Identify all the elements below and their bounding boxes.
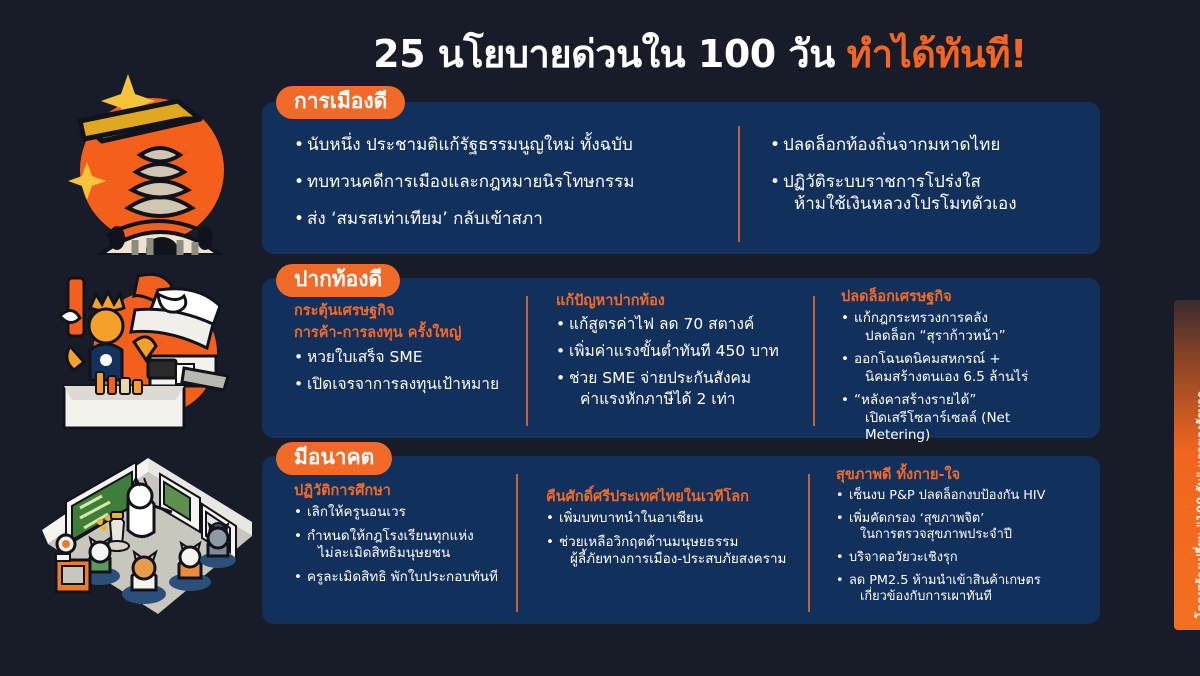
section-columns-politics: นับหนึ่ง ประชามติแก้รัฐธรรมนูญใหม่ ทั้งฉ… — [262, 118, 1100, 254]
section-badge-future: มีอนาคต — [276, 442, 392, 475]
list-item: เพิ่มบทบาทนำในอาเซียน — [546, 510, 792, 528]
list-item: ลด PM2.5 ห้ามนำเข้าสินค้าเกษตร เกี่ยวข้อ… — [836, 573, 1078, 606]
column-economy-costofliving: แก้ปัญหาปากท้อง แก้สูตรค่าไฟ ลด 70 สตางค… — [528, 288, 813, 438]
column-heading: สุขภาพดี ทั้งกาย-ใจ — [836, 466, 1078, 484]
section-badge-economy: ปากท้องดี — [276, 264, 400, 297]
page-title-accent: ทำได้ทันที! — [847, 35, 1027, 73]
section-columns-economy: กระตุ้นเศรษฐกิจ การค้า-การลงทุน ครั้งใหญ… — [262, 288, 1100, 438]
column-heading: ปลดล็อกเศรษฐกิจ — [841, 288, 1078, 306]
side-tab[interactable]: โครงสร้างเปลี่ยน "100 วัน" แรกของรัฐบาล — [1174, 300, 1200, 630]
column-economy-unlock: ปลดล็อกเศรษฐกิจ แก้กฎกระทรวงการคลัง ปลดล… — [815, 288, 1094, 438]
column-heading-secondary: การค้า-การลงทุน ครั้งใหญ่ — [294, 324, 510, 342]
bullet-list: ปลดล็อกท้องถิ่นจากมหาดไทย ปฏิวัติระบบราช… — [770, 134, 1078, 215]
bullet-list: หวยใบเสร็จ SME เปิดเจรจาการลงทุนเป้าหมาย — [294, 347, 510, 394]
list-item: เซ็นงบ P&P ปลดล็อกงบป้องกัน HIV — [836, 488, 1078, 505]
bullet-list: เลิกให้ครูนอนเวร กำหนดให้กฎโรงเรียนทุกแห… — [294, 504, 500, 586]
bullet-list: นับหนึ่ง ประชามติแก้รัฐธรรมนูญใหม่ ทั้งฉ… — [294, 134, 722, 230]
list-item: บริจาคอวัยวะเชิงรุก — [836, 550, 1078, 567]
trophy-pedestal-illustration — [40, 40, 260, 255]
column-politics-right: ปลดล็อกท้องถิ่นจากมหาดไทย ปฏิวัติระบบราช… — [740, 118, 1094, 254]
column-economy-stimulus: กระตุ้นเศรษฐกิจ การค้า-การลงทุน ครั้งใหญ… — [268, 288, 526, 438]
list-item: เพิ่มคัดกรอง ‘สุขภาพจิต’ ในการตรวจสุขภาพ… — [836, 511, 1078, 544]
page-title: 25 นโยบายด่วนใน 100 วัน ทำได้ทันที! — [260, 24, 1140, 84]
list-item: แก้สูตรค่าไฟ ลด 70 สตางค์ — [556, 314, 797, 334]
list-item: ออกโฉนดนิคมสหกรณ์ + นิคมสร้างตนเอง 6.5 ล… — [841, 351, 1078, 386]
list-item: ส่ง ‘สมรสเท่าเทียม’ กลับเข้าสภา — [294, 208, 722, 230]
column-politics-left: นับหนึ่ง ประชามติแก้รัฐธรรมนูญใหม่ ทั้งฉ… — [268, 118, 738, 254]
list-item: “หลังคาสร้างรายได้” เปิดเสรีโซลาร์เซลล์ … — [841, 392, 1078, 445]
side-tab-label: โครงสร้างเปลี่ยน "100 วัน" แรกของรัฐบาล — [1193, 391, 1200, 618]
column-future-education: ปฏิวัติการศึกษา เลิกให้ครูนอนเวร กำหนดให… — [268, 466, 516, 624]
bullet-list: เซ็นงบ P&P ปลดล็อกงบป้องกัน HIV เพิ่มคัด… — [836, 488, 1078, 606]
bullet-list: แก้สูตรค่าไฟ ลด 70 สตางค์ เพิ่มค่าแรงขั้… — [556, 314, 797, 409]
list-item: ปฏิวัติระบบราชการโปร่งใส ห้ามใช้เงินหลวง… — [770, 171, 1078, 215]
bullet-list: แก้กฎกระทรวงการคลัง ปลดล็อก “สุราก้าวหน้… — [841, 310, 1078, 445]
column-heading: กระตุ้นเศรษฐกิจ — [294, 302, 510, 320]
column-future-health: สุขภาพดี ทั้งกาย-ใจ เซ็นงบ P&P ปลดล็อกงบ… — [810, 466, 1094, 624]
list-item: เลิกให้ครูนอนเวร — [294, 504, 500, 522]
market-stall-illustration — [40, 268, 265, 438]
list-item: ช่วย SME จ่ายประกันสังคม ค่าแรงหักภาษีได… — [556, 368, 797, 408]
list-item: หวยใบเสร็จ SME — [294, 347, 510, 367]
column-future-diplomacy: คืนศักดิ์ศรีประเทศไทยในเวทีโลก เพิ่มบทบา… — [518, 466, 808, 624]
section-badge-politics: การเมืองดี — [276, 86, 405, 119]
infographic-page: 25 นโยบายด่วนใน 100 วัน ทำได้ทันที! — [0, 0, 1200, 676]
list-item: เพิ่มค่าแรงขั้นต่ำทันที 450 บาท — [556, 341, 797, 361]
column-heading: คืนศักดิ์ศรีประเทศไทยในเวทีโลก — [546, 488, 792, 506]
bullet-list: เพิ่มบทบาทนำในอาเซียน ช่วยเหลือวิกฤตด้าน… — [546, 510, 792, 569]
section-columns-future: ปฏิวัติการศึกษา เลิกให้ครูนอนเวร กำหนดให… — [262, 466, 1100, 624]
list-item: ช่วยเหลือวิกฤตด้านมนุษยธรรม ผู้ลี้ภัยทาง… — [546, 534, 792, 569]
column-heading: แก้ปัญหาปากท้อง — [556, 292, 797, 310]
list-item: เปิดเจรจาการลงทุนเป้าหมาย — [294, 374, 510, 394]
classroom-illustration — [40, 448, 270, 628]
page-title-main: 25 นโยบายด่วนใน 100 วัน — [373, 35, 835, 73]
column-heading: ปฏิวัติการศึกษา — [294, 482, 500, 500]
list-item: ครูละเมิดสิทธิ พักใบประกอบทันที — [294, 569, 500, 587]
list-item: กำหนดให้กฎโรงเรียนทุกแห่ง ไม่ละเมิดสิทธิ… — [294, 528, 500, 563]
list-item: ปลดล็อกท้องถิ่นจากมหาดไทย — [770, 134, 1078, 156]
list-item: ทบทวนคดีการเมืองและกฎหมายนิรโทษกรรม — [294, 171, 722, 193]
list-item: นับหนึ่ง ประชามติแก้รัฐธรรมนูญใหม่ ทั้งฉ… — [294, 134, 722, 156]
list-item: แก้กฎกระทรวงการคลัง ปลดล็อก “สุราก้าวหน้… — [841, 310, 1078, 345]
